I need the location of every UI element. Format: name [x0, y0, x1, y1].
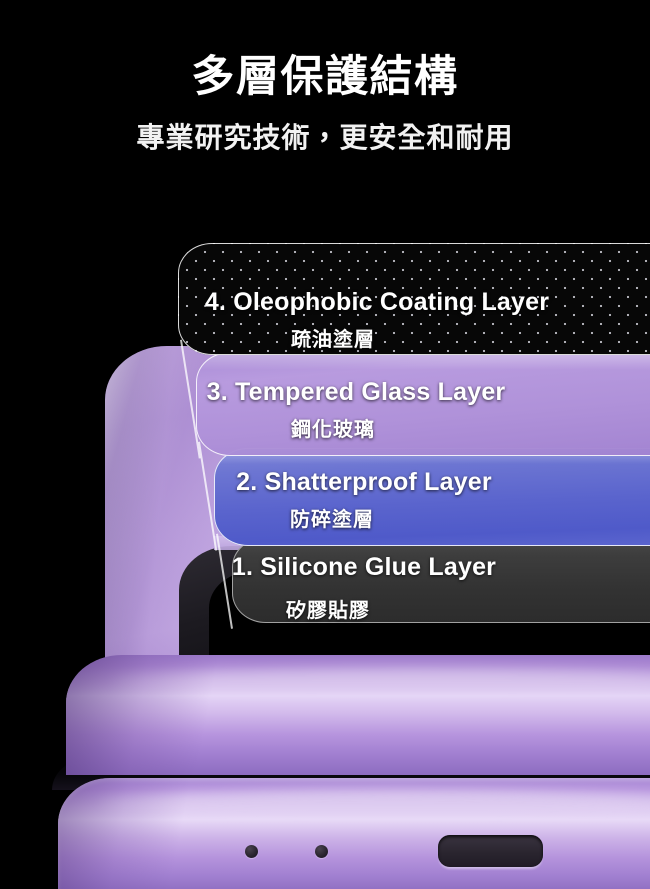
usb-c-port-icon	[438, 835, 543, 867]
layer-sheet-silicone-glue-face	[232, 537, 650, 623]
phone-lower-left-shade	[58, 778, 208, 889]
layer-sheet-shatterproof	[214, 448, 650, 546]
layer-sheet-silicone-glue	[232, 537, 650, 623]
layer-sheet-tempered-glass-face	[196, 352, 650, 456]
layer-sheet-oleophobic-coating	[178, 243, 650, 355]
microphone-hole-icon	[245, 845, 258, 858]
layer-sheet-oleophobic-coating-face	[178, 243, 650, 355]
phone-upper-left-shade	[66, 655, 231, 775]
phone-layer-illustration	[0, 0, 650, 889]
phone-upper-edge	[66, 655, 650, 775]
speaker-hole-icon	[315, 845, 328, 858]
phone-lower-edge	[58, 778, 650, 889]
product-infographic: 多層保護結構 專業研究技術，更安全和耐用	[0, 0, 650, 889]
layer-sheet-tempered-glass	[196, 352, 650, 456]
layer-sheet-shatterproof-face	[214, 448, 650, 546]
